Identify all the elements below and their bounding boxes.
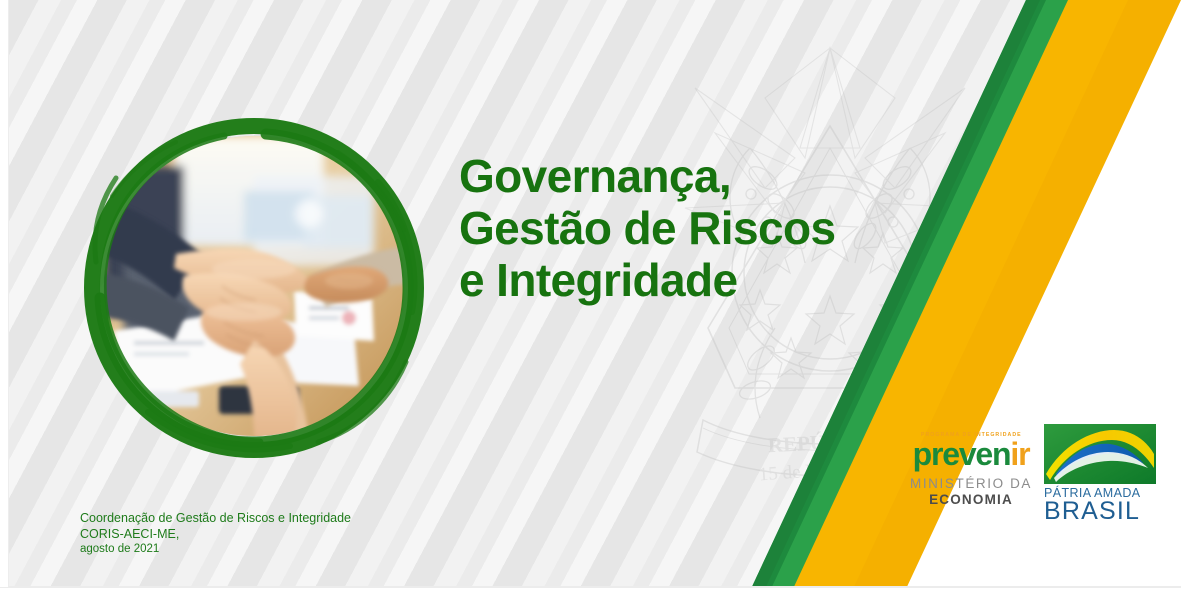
prevenir-wordmark-orange: ir (1010, 436, 1029, 472)
slide-caption: Coordenação de Gestão de Riscos e Integr… (80, 511, 351, 558)
prevenir-logo: PROGRAMA DE INTEGRIDADE prevenir MINISTÉ… (905, 432, 1037, 508)
title-line-1: Governança, (459, 150, 929, 202)
brush-stroke-ring-icon (78, 112, 430, 464)
ministry-line-1: MINISTÉRIO DA (905, 476, 1037, 492)
patria-amada-brasil-logo: PÁTRIA AMADA BRASIL (1044, 424, 1162, 525)
presentation-slide: REPÚBLICA 15 de Novembro (0, 0, 1181, 591)
brasil-line-2: BRASIL (1044, 498, 1162, 525)
prevenir-wordmark-green: preven (913, 436, 1011, 472)
ministry-line-2: ECONOMIA (905, 492, 1037, 508)
slide-left-edge (0, 0, 9, 591)
brazil-flag-icon (1044, 424, 1156, 484)
team-photo (78, 112, 430, 464)
caption-line-1: Coordenação de Gestão de Riscos e Integr… (80, 511, 351, 527)
title-line-3: e Integridade (459, 254, 929, 306)
title-line-2: Gestão de Riscos (459, 202, 929, 254)
slide-title: Governança, Gestão de Riscos e Integrida… (459, 150, 929, 306)
prevenir-wordmark: prevenir (905, 437, 1037, 471)
caption-line-3: agosto de 2021 (80, 542, 351, 558)
slide-bottom-edge (0, 587, 1181, 591)
caption-line-2: CORIS-AECI-ME, (80, 527, 351, 543)
